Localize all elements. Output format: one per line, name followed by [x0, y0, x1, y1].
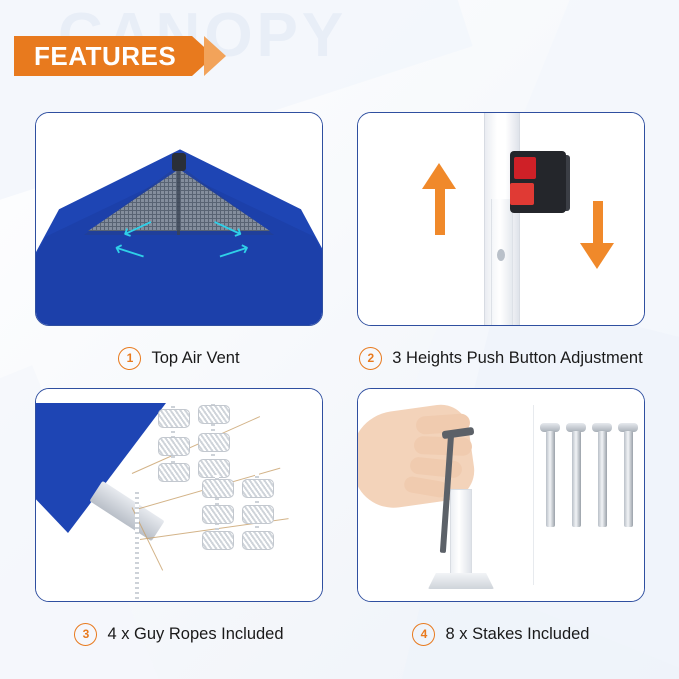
canopy-leg [450, 489, 472, 583]
red-push-button-upper [514, 157, 536, 179]
rope-knot [202, 505, 234, 524]
features-grid: ⟵ ⟵ ⟶ ⟶ 1 Top Air Vent [36, 112, 644, 654]
push-button-height-adjustment-photo [357, 112, 645, 326]
feature-2-label: 3 Heights Push Button Adjustment [392, 347, 642, 369]
rope-knot [242, 531, 274, 550]
rope-knot [158, 463, 190, 482]
guy-rope-coil-2 [198, 401, 228, 479]
feature-4-number-badge: 4 [412, 623, 435, 646]
tent-top-air-vent-photo: ⟵ ⟵ ⟶ ⟶ [35, 112, 323, 326]
canopy-foot-plate [428, 573, 494, 589]
rope-knot [158, 437, 190, 456]
rope-knot [202, 479, 234, 498]
feature-4-caption: 4 8 x Stakes Included [412, 614, 589, 654]
feature-card-2: 2 3 Heights Push Button Adjustment [358, 112, 644, 378]
rope-knot [242, 479, 274, 498]
feature-card-3: 3 4 x Guy Ropes Included [36, 388, 322, 654]
vent-peak-cap [172, 153, 186, 171]
stake-2 [572, 431, 581, 527]
feature-1-label: Top Air Vent [151, 347, 239, 369]
stakes-photo [357, 388, 645, 602]
red-push-button-lower [510, 183, 534, 205]
rope-knot [198, 405, 230, 424]
stake-1 [546, 431, 555, 527]
guy-ropes-photo [35, 388, 323, 602]
pole-adjustment-hole [497, 249, 505, 261]
rope-strand [135, 489, 139, 599]
feature-4-label: 8 x Stakes Included [445, 623, 589, 645]
up-arrow-stem-icon [435, 187, 445, 235]
stake-3 [598, 431, 607, 527]
guy-rope-coil-1 [158, 403, 188, 481]
down-arrow-stem-icon [593, 201, 603, 247]
attached-guy-rope [122, 489, 152, 599]
canopy-ridge [177, 163, 180, 235]
feature-1-caption: 1 Top Air Vent [118, 338, 239, 378]
guy-rope-coil-4 [242, 473, 272, 551]
canopy-pole-inner-tube [491, 199, 513, 326]
rope-knot [158, 409, 190, 428]
finger-2 [414, 436, 473, 456]
rope-knot [198, 433, 230, 452]
feature-card-1: ⟵ ⟵ ⟶ ⟶ 1 Top Air Vent [36, 112, 322, 378]
feature-2-caption: 2 3 Heights Push Button Adjustment [359, 338, 642, 378]
feature-2-number-badge: 2 [359, 347, 382, 370]
features-header-banner: FEATURES [14, 36, 226, 76]
stake-4 [624, 431, 633, 527]
up-arrow-head-icon [422, 163, 456, 189]
rope-knot [202, 531, 234, 550]
guy-rope-coil-3 [202, 475, 232, 553]
rope-knot [242, 505, 274, 524]
feature-card-4: 4 8 x Stakes Included [358, 388, 644, 654]
photo-divider [533, 405, 534, 585]
product-feature-sheet: CANOPY FEATURES ⟵ ⟵ ⟶ ⟶ 1 Top Ai [0, 0, 679, 679]
feature-1-number-badge: 1 [118, 347, 141, 370]
feature-3-number-badge: 3 [74, 623, 97, 646]
feature-3-caption: 3 4 x Guy Ropes Included [74, 614, 283, 654]
feature-3-label: 4 x Guy Ropes Included [107, 623, 283, 645]
page-title: FEATURES [14, 36, 192, 76]
header-arrow-secondary [204, 36, 226, 76]
